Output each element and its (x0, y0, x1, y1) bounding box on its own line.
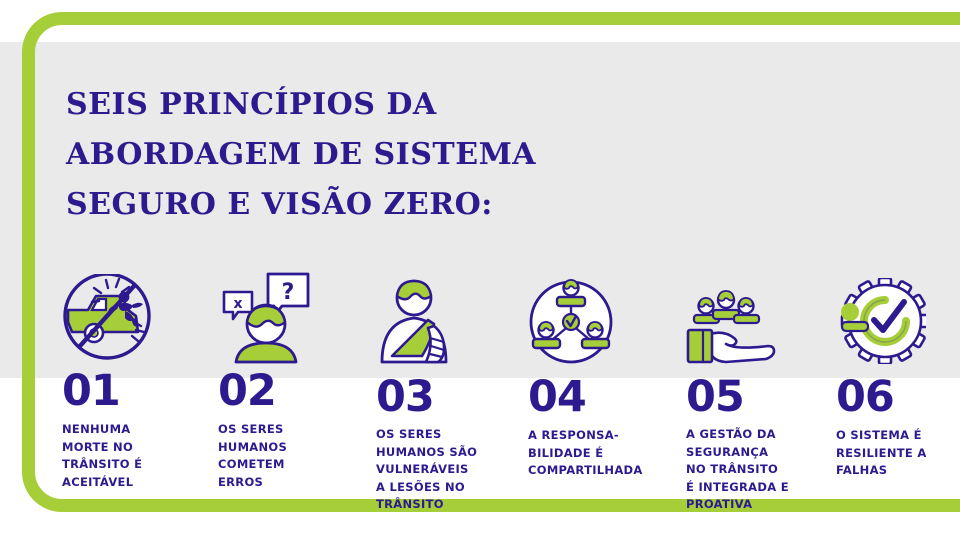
gear-resilient-system-check-icon (836, 272, 960, 364)
principle-line: OS SERES (376, 426, 526, 444)
infographic-canvas: SEIS PRINCÍPIOS DA ABORDAGEM DE SISTEMA … (0, 0, 960, 540)
principle-item-06: 06 O SISTEMA É RESILIENTE A FALHAS (836, 272, 960, 480)
principle-line: FALHAS (836, 462, 960, 480)
principle-line: TRÂNSITO É (62, 456, 212, 474)
injured-person-arm-sling-icon (376, 272, 526, 364)
principle-line: A LESÕES NO (376, 479, 526, 497)
principle-line: ACEITÁVEL (62, 474, 212, 492)
principle-item-01: 01 NENHUMA MORTE NO TRÂNSITO É ACEITÁVEL (62, 272, 212, 491)
page-title-line-2: ABORDAGEM DE SISTEMA (66, 130, 686, 180)
principle-line: MORTE NO (62, 439, 212, 457)
principle-line: OS SERES (218, 421, 368, 439)
principle-line: HUMANOS SÃO (376, 444, 526, 462)
principle-line: ERROS (218, 474, 368, 492)
principle-number: 05 (686, 376, 836, 419)
principle-line: BILIDADE É (528, 445, 678, 463)
principle-item-02: ? x 02 OS SERES HUMANOS COMETEM ERROS (218, 272, 368, 491)
principle-line: TRÂNSITO (376, 496, 526, 514)
principle-number: 02 (218, 370, 368, 413)
page-title-line-3: SEGURO E VISÃO ZERO: (66, 180, 686, 230)
principle-item-03: 03 OS SERES HUMANOS SÃO VULNERÁVEIS A LE… (376, 272, 526, 514)
principle-line: HUMANOS (218, 439, 368, 457)
svg-text:x: x (233, 296, 242, 312)
shared-responsibility-three-people-network-icon (528, 272, 678, 364)
principle-item-04: 04 A RESPONSA- BILIDADE É COMPARTILHADA (528, 272, 678, 480)
principle-number: 04 (528, 376, 678, 419)
person-head-error-question-bubbles-icon: ? x (218, 272, 368, 364)
principle-line: COMETEM (218, 456, 368, 474)
car-crash-pedestrian-prohibited-icon (62, 272, 212, 364)
principle-line: NENHUMA (62, 421, 212, 439)
principle-description: OS SERES HUMANOS COMETEM ERROS (218, 421, 368, 491)
principle-description: A GESTÃO DA SEGURANÇA NO TRÂNSITO É INTE… (686, 426, 836, 514)
principle-number: 06 (836, 376, 960, 419)
principles-list: 01 NENHUMA MORTE NO TRÂNSITO É ACEITÁVEL… (0, 272, 960, 512)
principle-line: O SISTEMA É (836, 427, 960, 445)
svg-text:?: ? (282, 280, 295, 305)
principle-item-05: 05 A GESTÃO DA SEGURANÇA NO TRÂNSITO É I… (686, 272, 836, 514)
page-title: SEIS PRINCÍPIOS DA ABORDAGEM DE SISTEMA … (66, 80, 686, 230)
principle-line: COMPARTILHADA (528, 462, 678, 480)
principle-line: NO TRÂNSITO (686, 461, 836, 479)
principle-line: É INTEGRADA E (686, 479, 836, 497)
principle-description: O SISTEMA É RESILIENTE A FALHAS (836, 427, 960, 480)
page-title-line-1: SEIS PRINCÍPIOS DA (66, 80, 686, 130)
principle-line: VULNERÁVEIS (376, 461, 526, 479)
principle-description: OS SERES HUMANOS SÃO VULNERÁVEIS A LESÕE… (376, 426, 526, 514)
principle-line: RESILIENTE A (836, 445, 960, 463)
principle-number: 01 (62, 370, 212, 413)
principle-line: A GESTÃO DA (686, 426, 836, 444)
principle-line: SEGURANÇA (686, 444, 836, 462)
hand-holding-people-care-icon (686, 272, 836, 364)
principle-number: 03 (376, 376, 526, 419)
principle-description: A RESPONSA- BILIDADE É COMPARTILHADA (528, 427, 678, 480)
principle-description: NENHUMA MORTE NO TRÂNSITO É ACEITÁVEL (62, 421, 212, 491)
principle-line: A RESPONSA- (528, 427, 678, 445)
principle-line: PROATIVA (686, 496, 836, 514)
